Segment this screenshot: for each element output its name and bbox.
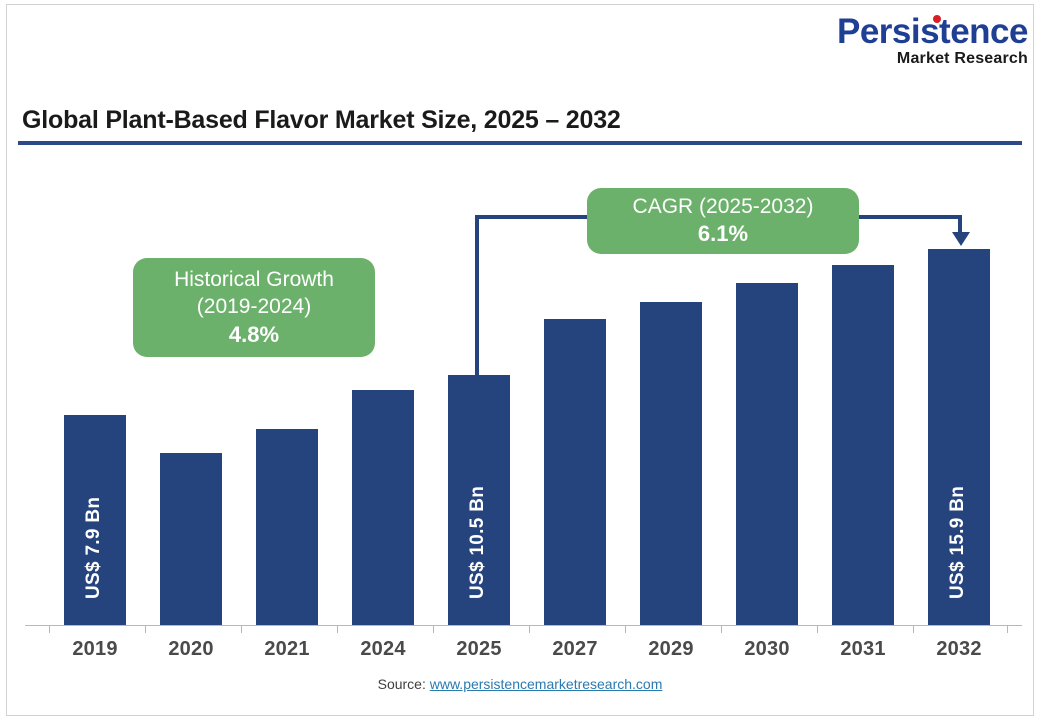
- axis-tick: [625, 626, 626, 633]
- axis-tick: [241, 626, 242, 633]
- axis-tick: [721, 626, 722, 633]
- cagr-connector-vertical-left: [475, 217, 479, 377]
- bar-value-label-2032: US$ 15.9 Bn: [947, 486, 969, 599]
- bar-2029: [640, 302, 702, 625]
- axis-tick: [433, 626, 434, 633]
- bar-2027: [544, 319, 606, 625]
- bar-2020: [160, 453, 222, 625]
- axis-tick: [49, 626, 50, 633]
- source-line: Source: www.persistencemarketresearch.co…: [0, 676, 1040, 692]
- source-prefix: Source:: [378, 676, 426, 692]
- axis-tick: [1007, 626, 1008, 633]
- bar-2024: [352, 390, 414, 625]
- bar-value-label-2019: US$ 7.9 Bn: [83, 497, 105, 599]
- axis-tick: [817, 626, 818, 633]
- historical-callout-line1: Historical Growth: [174, 266, 334, 293]
- cagr-callout: CAGR (2025-2032) 6.1%: [587, 188, 859, 254]
- axis-tick: [145, 626, 146, 633]
- chart-page: Persistence Market Research Global Plant…: [0, 0, 1040, 720]
- source-url-link[interactable]: www.persistencemarketresearch.com: [430, 676, 663, 692]
- bar-2030: [736, 283, 798, 625]
- axis-tick: [913, 626, 914, 633]
- bar-2031: [832, 265, 894, 625]
- bar-2021: [256, 429, 318, 625]
- x-label-2032: 2032: [899, 638, 1019, 661]
- cagr-callout-value: 6.1%: [698, 220, 748, 249]
- historical-callout-line2: (2019-2024): [197, 293, 311, 320]
- bar-value-label-2025: US$ 10.5 Bn: [467, 486, 489, 599]
- cagr-arrow-icon: [952, 232, 970, 246]
- cagr-callout-line1: CAGR (2025-2032): [633, 193, 814, 220]
- historical-growth-callout: Historical Growth (2019-2024) 4.8%: [133, 258, 375, 357]
- axis-tick: [337, 626, 338, 633]
- x-axis-line: [25, 625, 1022, 626]
- bar-chart: US$ 7.9 BnUS$ 10.5 BnUS$ 15.9 Bn 2019202…: [0, 0, 1040, 720]
- historical-callout-value: 4.8%: [229, 321, 279, 350]
- axis-tick: [529, 626, 530, 633]
